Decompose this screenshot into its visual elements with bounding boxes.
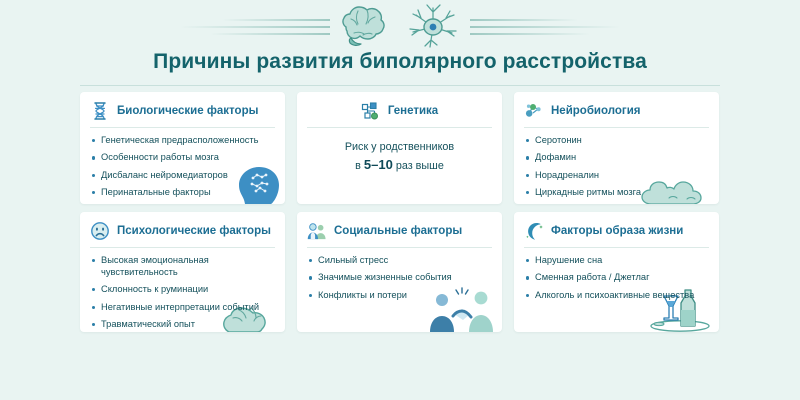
card-biological[interactable]: Биологические факторы Генетическая предр…: [80, 92, 285, 204]
list-item: Дисбаланс нейромедиаторов: [90, 170, 275, 182]
card-header: Социальные факторы: [307, 221, 492, 248]
bullet-list: Генетическая предрасположенность Особенн…: [90, 135, 275, 199]
list-item: Серотонин: [524, 135, 709, 147]
cards-grid: Биологические факторы Генетическая предр…: [80, 92, 720, 332]
list-item: Высокая эмоциональная чувствительность: [90, 255, 275, 279]
list-item: Склонность к руминации: [90, 284, 275, 296]
stat-suffix: раз выше: [393, 160, 444, 172]
list-item: Негативные интерпретации событий: [90, 302, 275, 314]
infographic-page: Причины развития биполярного расстройств…: [0, 0, 800, 400]
hero-illustration: [0, 2, 800, 52]
card-title: Нейробиология: [551, 105, 640, 117]
moon-icon: [524, 221, 544, 241]
sad-face-icon: [90, 221, 110, 241]
neuron-icon: [400, 2, 466, 52]
list-item: Норадреналин: [524, 170, 709, 182]
list-item: Значимые жизненные события: [307, 272, 492, 284]
page-title: Причины развития биполярного расстройств…: [0, 50, 800, 74]
bullet-list: Серотонин Дофамин Норадреналин Циркадные…: [524, 135, 709, 199]
header: Причины развития биполярного расстройств…: [0, 0, 800, 90]
list-item: Особенности работы мозга: [90, 152, 275, 164]
bullet-list: Нарушение сна Сменная работа / Джетлаг А…: [524, 255, 709, 302]
stat-value: 5–10: [364, 157, 393, 172]
genetics-stat: Риск у родственников в 5–10 раз выше: [307, 135, 492, 172]
bullet-list: Высокая эмоциональная чувствительность С…: [90, 255, 275, 331]
list-item: Конфликты и потери: [307, 290, 492, 302]
list-item: Алкоголь и психоактивные вещества: [524, 290, 709, 302]
dna-icon: [90, 101, 110, 121]
card-neurobiology[interactable]: Нейробиология Серотонин Дофамин Норадрен…: [514, 92, 719, 204]
card-title: Факторы образа жизни: [551, 225, 683, 237]
card-header: Нейробиология: [524, 101, 709, 128]
card-psychological[interactable]: Психологические факторы Высокая эмоциона…: [80, 212, 285, 332]
decorative-rule-right: [470, 14, 620, 40]
card-genetics[interactable]: Генетика Риск у родственников в 5–10 раз…: [297, 92, 502, 204]
molecule-icon: [524, 101, 544, 121]
list-item: Циркадные ритмы мозга: [524, 187, 709, 199]
card-header: Биологические факторы: [90, 101, 275, 128]
list-item: Дофамин: [524, 152, 709, 164]
card-header: Генетика: [307, 101, 492, 128]
stat-line-2: в 5–10 раз выше: [307, 157, 492, 172]
bullet-list: Сильный стресс Значимые жизненные событи…: [307, 255, 492, 302]
stat-prefix: в: [355, 160, 364, 172]
card-title: Психологические факторы: [117, 225, 271, 237]
stat-line-1: Риск у родственников: [307, 141, 492, 153]
card-header: Психологические факторы: [90, 221, 275, 248]
card-title: Генетика: [388, 105, 438, 117]
list-item: Перинатальные факторы: [90, 187, 275, 199]
card-header: Факторы образа жизни: [524, 221, 709, 248]
family-tree-icon: [361, 101, 381, 121]
list-item: Сильный стресс: [307, 255, 492, 267]
card-title: Биологические факторы: [117, 105, 258, 117]
list-item: Травматический опыт: [90, 319, 275, 331]
decorative-rule-left: [180, 14, 330, 40]
list-item: Нарушение сна: [524, 255, 709, 267]
brain-icon: [334, 3, 396, 51]
card-social[interactable]: Социальные факторы Сильный стресс Значим…: [297, 212, 502, 332]
card-lifestyle[interactable]: Факторы образа жизни Нарушение сна Сменн…: [514, 212, 719, 332]
list-item: Сменная работа / Джетлаг: [524, 272, 709, 284]
card-title: Социальные факторы: [334, 225, 462, 237]
people-group-icon: [307, 221, 327, 241]
list-item: Генетическая предрасположенность: [90, 135, 275, 147]
title-divider: [80, 85, 720, 86]
